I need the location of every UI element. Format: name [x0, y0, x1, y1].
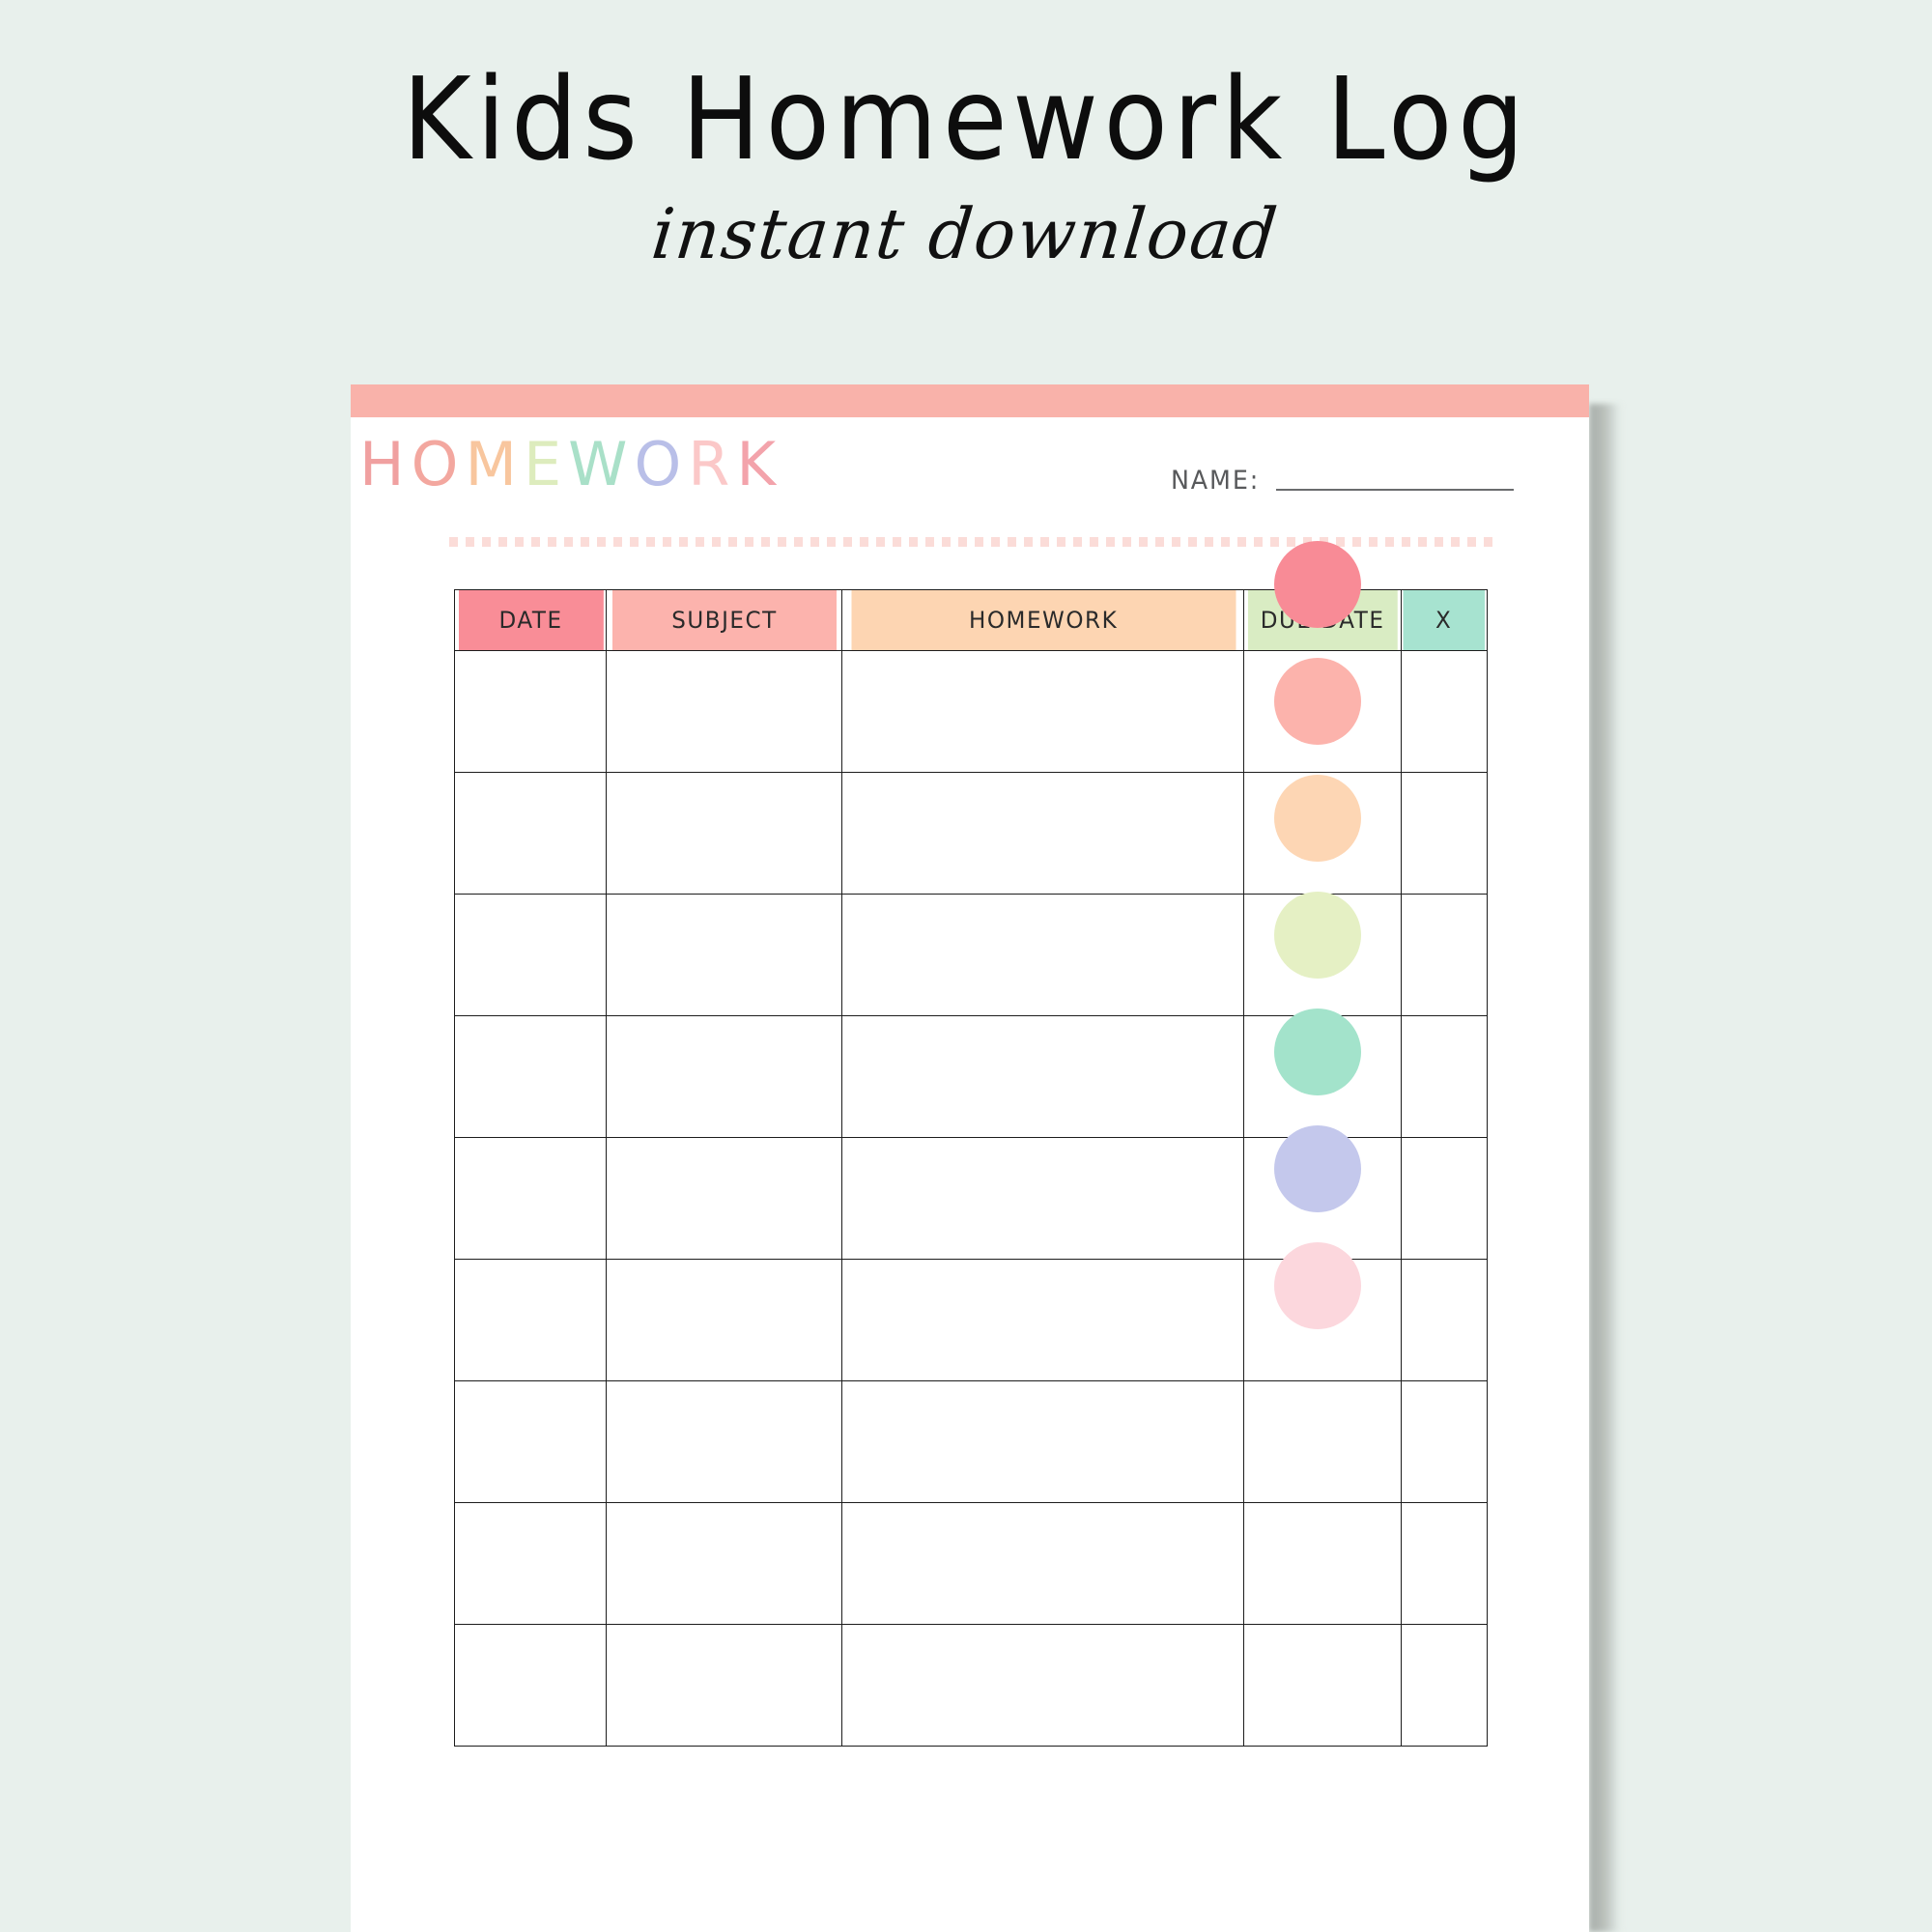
color-swatch-strip: [1274, 541, 1367, 1359]
column-header-x: X: [1403, 590, 1486, 651]
name-field[interactable]: NAME:: [1168, 468, 1514, 494]
table-cell-date[interactable]: [455, 1381, 607, 1503]
table-cell-subject[interactable]: [607, 651, 842, 773]
sheet-heading-letter-0: H: [359, 435, 412, 495]
table-cell-duedate[interactable]: [1244, 1625, 1401, 1747]
table-cell-x[interactable]: [1401, 1503, 1487, 1625]
page-subtitle: instant download: [14, 180, 1918, 274]
table-cell-date[interactable]: [455, 773, 607, 895]
color-swatch-salmon-pink: [1274, 658, 1361, 745]
color-swatch-coral-red: [1274, 541, 1361, 628]
table-cell-subject[interactable]: [607, 1138, 842, 1260]
table-cell-x[interactable]: [1401, 773, 1487, 895]
color-swatch-periwinkle: [1274, 1125, 1361, 1212]
printable-sheet: HOMEWORK NAME: DATE SUBJECT HOMEWORK DUE…: [351, 384, 1589, 1932]
table-cell-subject[interactable]: [607, 1381, 842, 1503]
sheet-header: HOMEWORK NAME:: [351, 417, 1589, 526]
table-cell-date[interactable]: [455, 1016, 607, 1138]
table-cell-x[interactable]: [1401, 1625, 1487, 1747]
sheet-heading-letter-6: R: [688, 435, 736, 495]
table-cell-date[interactable]: [455, 1625, 607, 1747]
name-label: NAME:: [1171, 468, 1260, 494]
table-cell-date[interactable]: [455, 895, 607, 1016]
color-swatch-baby-pink: [1274, 1242, 1361, 1329]
color-swatch-peach: [1274, 775, 1361, 862]
table-cell-homework[interactable]: [842, 1016, 1244, 1138]
table-cell-x[interactable]: [1401, 651, 1487, 773]
table-cell-homework[interactable]: [842, 1503, 1244, 1625]
paper-drop-shadow: [1589, 404, 1622, 1932]
sheet-top-accent-bar: [351, 384, 1589, 417]
table-cell-subject[interactable]: [607, 1625, 842, 1747]
table-cell-date[interactable]: [455, 1503, 607, 1625]
table-cell-homework[interactable]: [842, 1260, 1244, 1381]
table-cell-x[interactable]: [1401, 1138, 1487, 1260]
table-cell-homework[interactable]: [842, 895, 1244, 1016]
table-cell-subject[interactable]: [607, 1260, 842, 1381]
table-cell-date[interactable]: [455, 1138, 607, 1260]
sheet-heading-homework: HOMEWORK: [359, 435, 782, 495]
color-swatch-mint-green: [1274, 1009, 1361, 1095]
table-cell-date[interactable]: [455, 1260, 607, 1381]
column-header-date: DATE: [458, 590, 604, 651]
sheet-heading-letter-7: K: [736, 435, 782, 495]
sheet-heading-letter-3: E: [524, 435, 568, 495]
sheet-heading-letter-5: O: [634, 435, 688, 495]
column-header-subject: SUBJECT: [611, 590, 838, 651]
table-cell-homework[interactable]: [842, 773, 1244, 895]
name-write-line[interactable]: [1276, 489, 1514, 491]
color-swatch-lime-cream: [1274, 892, 1361, 979]
table-row[interactable]: [455, 1625, 1488, 1747]
column-header-homework: HOMEWORK: [850, 590, 1236, 651]
table-cell-date[interactable]: [455, 651, 607, 773]
page-title: Kids Homework Log: [77, 0, 1855, 180]
table-cell-x[interactable]: [1401, 1016, 1487, 1138]
table-cell-homework[interactable]: [842, 1381, 1244, 1503]
table-cell-subject[interactable]: [607, 895, 842, 1016]
table-cell-duedate[interactable]: [1244, 1503, 1401, 1625]
table-row[interactable]: [455, 1381, 1488, 1503]
sheet-heading-letter-4: W: [568, 435, 634, 495]
page-header: Kids Homework Log instant download: [0, 0, 1932, 274]
table-cell-subject[interactable]: [607, 773, 842, 895]
table-cell-duedate[interactable]: [1244, 1381, 1401, 1503]
table-cell-x[interactable]: [1401, 1260, 1487, 1381]
table-cell-homework[interactable]: [842, 1625, 1244, 1747]
table-cell-x[interactable]: [1401, 1381, 1487, 1503]
sheet-heading-letter-2: M: [465, 435, 524, 495]
table-cell-x[interactable]: [1401, 895, 1487, 1016]
table-row[interactable]: [455, 1503, 1488, 1625]
table-cell-homework[interactable]: [842, 651, 1244, 773]
table-cell-subject[interactable]: [607, 1503, 842, 1625]
table-cell-subject[interactable]: [607, 1016, 842, 1138]
table-cell-homework[interactable]: [842, 1138, 1244, 1260]
sheet-heading-letter-1: O: [412, 435, 466, 495]
